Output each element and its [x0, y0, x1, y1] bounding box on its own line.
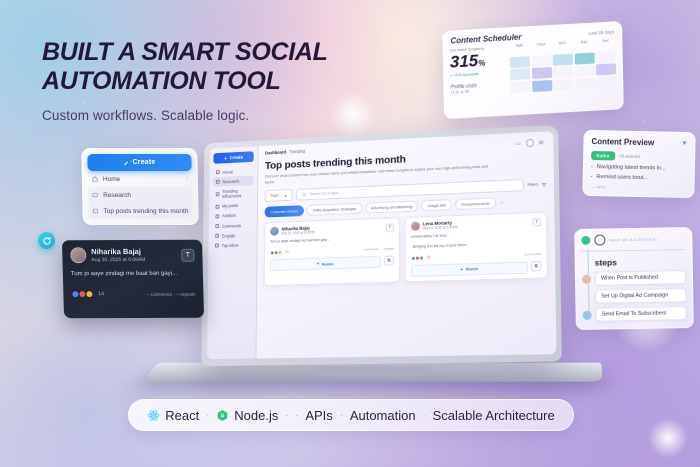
tech-item-automation[interactable]: Automation	[350, 408, 416, 423]
breadcrumb-current: Trending	[289, 149, 305, 155]
reaction-count: 14	[98, 291, 104, 297]
tech-item-react-label: React	[165, 408, 199, 423]
workflow-title: steps	[595, 256, 686, 268]
post-meta: -- comments · -- reposts	[146, 291, 195, 296]
scheduler-cell-1-1[interactable]	[531, 67, 551, 79]
status-dot-icon	[581, 236, 590, 245]
sidebar-item-research-label: Research	[103, 191, 131, 198]
filter-chip-4[interactable]: Entrepreneurship	[455, 198, 496, 211]
app-sidebar[interactable]: Create HomeResearchTrending influencersM…	[207, 146, 259, 359]
post-card-2-author-block: Lena Moriarty Sep 01, 2026 at 5:30PM	[423, 220, 458, 230]
post-card-1-meta: -- comments · -- reposts	[362, 247, 394, 252]
scheduler-cell-1-3[interactable]	[574, 65, 594, 77]
floating-post-card[interactable]: Niharika Bajaj Aug 30, 2025 at 6:06AM T …	[62, 240, 204, 318]
post-card-1-footer: 14 -- comments · -- reposts	[270, 246, 394, 255]
laptop-lid: Create HomeResearchTrending influencersM…	[201, 125, 562, 366]
scheduler-cell-0-2[interactable]	[553, 53, 573, 65]
topic-select[interactable]: Topic ▾	[265, 189, 293, 202]
mail-icon[interactable]: ✉	[539, 139, 544, 146]
text-format-button[interactable]: T	[181, 248, 194, 261]
workflow-header: Asset 360 8 4:30 003:01	[581, 233, 685, 252]
plus-icon	[224, 156, 228, 160]
workflow-step-1[interactable]: When Post is Published	[582, 270, 686, 286]
workflow-steps-card[interactable]: Asset 360 8 4:30 003:01 steps When Post …	[574, 227, 694, 330]
sidebar-item-home[interactable]: Home ›	[88, 171, 192, 187]
filter-chip-1[interactable]: Traffic Acquisition Strategies	[306, 203, 362, 216]
app-sidebar-item-trending-influencers[interactable]: Trending influencers	[213, 185, 254, 201]
scheduler-cell-0-1[interactable]	[531, 54, 551, 66]
sidebar-item-trending-label: Top posts trending this month	[103, 207, 188, 214]
refresh-icon	[41, 235, 51, 245]
sidebar-item-home-label: Home	[103, 176, 120, 183]
tech-separator-5: ·	[423, 410, 426, 420]
step-node-icon	[582, 274, 591, 283]
tech-item-apis[interactable]: APIs	[305, 408, 332, 423]
kpi-unit: %	[478, 59, 485, 68]
scheduler-heatmap-grid[interactable]: SMSTriviaSEORaySell	[509, 38, 616, 92]
avatar	[270, 227, 279, 236]
content-preview-item-1[interactable]: ▪ Navigating latest trends in...	[591, 164, 687, 172]
scheduler-cell-2-4[interactable]	[596, 76, 616, 88]
scheduler-col-3: Ray	[574, 40, 594, 52]
tech-separator-4: ·	[340, 410, 343, 420]
post-card-2-date: Sep 01, 2026 at 5:30PM	[423, 225, 458, 230]
pencil-icon	[123, 160, 129, 166]
scheduler-kpi-value: 315%	[450, 50, 506, 70]
post-card-1-remix-label: Remix	[322, 261, 334, 266]
nav-item-icon	[216, 192, 220, 196]
filter-chip-0[interactable]: Corporate memes	[264, 206, 303, 218]
profile-circle-icon[interactable]	[526, 139, 534, 147]
react-icon	[147, 409, 160, 422]
post-card-1-actions: Remix ⧉	[270, 255, 394, 271]
create-button-label: Create	[132, 159, 155, 166]
headline-block: BUILT A SMART SOCIAL AUTOMATION TOOL Cus…	[42, 38, 372, 123]
post-card-2[interactable]: Lena Moriarty Sep 01, 2026 at 5:30PM T U…	[405, 212, 548, 282]
scheduler-cell-1-4[interactable]	[596, 63, 616, 75]
scheduler-col-0: SMS	[509, 43, 529, 55]
filters-label: Filters	[527, 183, 538, 188]
reaction-celebrate-icon	[85, 290, 93, 298]
post-card-2-text: Unfortunately I do love...	[411, 231, 541, 241]
avatar	[411, 222, 420, 231]
app-sidebar-item-label: Analyze	[222, 213, 236, 218]
trending-icon	[92, 208, 98, 214]
app-sidebar-item-label: Trending influencers	[222, 188, 250, 199]
content-preview-header: Content Preview ▼	[591, 137, 687, 148]
post-card-2-text-2: - Bringing it to the top of your inbox..…	[411, 240, 541, 250]
trackpad	[310, 367, 432, 377]
sparkle-icon	[316, 262, 320, 266]
post-author-block: Niharika Bajaj Aug 30, 2025 at 6:06AM	[91, 247, 145, 263]
content-preview-footer: ---- Up to.	[590, 185, 686, 191]
content-preview-item-1-label: Navigating latest trends in...	[597, 164, 666, 171]
breadcrumb-sep: ·	[287, 150, 288, 155]
bullet-icon: ▪	[591, 174, 593, 180]
post-header: Niharika Bajaj Aug 30, 2025 at 6:06AM T	[70, 247, 194, 263]
app-create-button[interactable]: Create	[213, 151, 253, 164]
nav-item-icon	[215, 224, 219, 228]
post-card-2-remix-button[interactable]: Remix	[411, 261, 528, 277]
assigned-label: All assned	[619, 154, 640, 159]
nav-item-icon	[216, 170, 220, 174]
content-preview-item-2[interactable]: ▪ Remind users bout...	[591, 174, 687, 182]
workflow-step-3-label: Send Email To Subscribers	[596, 306, 687, 322]
tech-item-scalable[interactable]: Scalable Architecture	[433, 408, 555, 423]
headline-line-1: BUILT A SMART SOCIAL	[42, 38, 328, 66]
nav-item-icon	[216, 204, 220, 208]
tech-item-react[interactable]: React	[147, 408, 199, 423]
post-card-1-reaction-count: 14	[285, 250, 288, 254]
app-main: Dashboard · Trending Top posts trending …	[256, 131, 556, 358]
content-scheduler-card[interactable]: Content Scheduler Last 28 days Get reach…	[442, 21, 624, 119]
scheduler-cell-1-0[interactable]	[510, 68, 530, 80]
filters-button[interactable]: Filters	[527, 182, 546, 188]
content-preview-title: Content Preview	[591, 137, 654, 147]
page-title: BUILT A SMART SOCIAL AUTOMATION TOOL	[42, 38, 372, 97]
research-icon	[92, 192, 98, 198]
post-card-1[interactable]: Niharika Bajaj Sep 10, 2025 at 6:06PM T …	[264, 218, 400, 286]
post-card-1-text-button[interactable]: T	[386, 223, 394, 231]
post-footer: 14 -- comments · -- reposts	[71, 290, 195, 298]
post-card-1-author-block: Niharika Bajaj Sep 10, 2025 at 6:06PM	[282, 226, 315, 236]
tech-item-automation-label: Automation	[350, 408, 416, 423]
scheduler-cell-2-2[interactable]	[553, 78, 573, 90]
post-card-2-meta: 5 comments	[524, 252, 541, 257]
sidebar-item-research[interactable]: Research	[88, 187, 192, 203]
post-card-2-footer: 32 5 comments	[411, 251, 541, 260]
app-sidebar-item-label: Comments	[222, 223, 241, 229]
scheduler-cell-1-2[interactable]	[553, 66, 573, 78]
tech-item-nodejs[interactable]: Node.js	[216, 408, 278, 423]
laptop-screen: Create HomeResearchTrending influencersM…	[207, 131, 557, 359]
sidebar-item-trending[interactable]: Top posts trending this month	[88, 203, 192, 219]
chevron-down-icon[interactable]: ▼	[681, 140, 687, 146]
post-card-1-reactions[interactable]: 14	[270, 250, 289, 256]
workflow-step-1-label: When Post is Published	[595, 270, 686, 286]
bullet-icon: ▪	[591, 164, 593, 170]
scheduler-cell-2-3[interactable]	[575, 77, 595, 89]
nav-item-icon	[216, 180, 220, 184]
chevron-right-icon: ›	[186, 176, 188, 182]
filter-chip-3[interactable]: Google Ads	[421, 200, 452, 212]
post-text: Tum jo aaye zindagi me baat ban gayi...	[71, 270, 195, 279]
tech-separator-2: ·	[285, 410, 288, 420]
search-placeholder: Search for a topic...	[309, 191, 341, 196]
post-card-2-share-button[interactable]: ⧉	[531, 261, 542, 272]
nav-item-icon	[215, 214, 219, 218]
post-card-2-text-button[interactable]: T	[532, 218, 540, 226]
scheduler-cell-0-4[interactable]	[596, 51, 616, 63]
post-card-1-header: Niharika Bajaj Sep 10, 2025 at 6:06PM T	[270, 223, 394, 236]
post-card-1-date: Sep 10, 2025 at 6:06PM	[282, 231, 315, 236]
content-preview-tags: Sales All assned	[591, 151, 687, 162]
workflow-step-2[interactable]: Set Up Digital Ad Campaign	[582, 288, 686, 304]
window-controls[interactable]: ▭ ✉	[515, 139, 543, 148]
app-logo-badge	[38, 232, 56, 250]
tech-item-scalable-label: Scalable Architecture	[433, 408, 555, 423]
step-node-icon	[583, 310, 592, 319]
breadcrumb-root[interactable]: Dashboard	[265, 150, 286, 156]
post-card-2-header: Lena Moriarty Sep 01, 2026 at 5:30PM T	[411, 217, 541, 231]
filter-chip-2[interactable]: Advertising and Marketing	[365, 201, 418, 214]
post-date: Aug 30, 2025 at 6:06AM	[91, 257, 145, 263]
post-card-grid: Niharika Bajaj Sep 10, 2025 at 6:06PM T …	[264, 212, 548, 286]
app-nav-list[interactable]: HomeResearchTrending influencersMy posts…	[212, 166, 253, 251]
home-icon	[92, 176, 98, 182]
tech-item-apis-label: APIs	[305, 408, 332, 423]
tech-separator-1: ·	[206, 410, 209, 420]
record-ring-icon	[594, 234, 605, 245]
scheduler-kpi-panel: Get reach targeting 315% + +2.8 accounts…	[450, 44, 507, 96]
kpi-number: 315	[450, 51, 479, 72]
sparkle-3	[648, 418, 688, 458]
workflow-step-3[interactable]: Send Email To Subscribers	[583, 306, 687, 322]
app-sidebar-item-label: Research	[222, 179, 239, 185]
post-card-1-text: Tum jo aaye zindagi me baat ban gayi...	[270, 236, 394, 246]
post-card-1-remix-button[interactable]: Remix	[270, 256, 381, 271]
reaction-celebrate-icon	[419, 255, 424, 260]
app-sidebar-item-label: Top inbox	[222, 243, 239, 248]
app-sidebar-item-label: My posts	[222, 203, 238, 208]
nav-item-icon	[215, 244, 219, 248]
post-card-2-reaction-count: 32	[427, 255, 431, 259]
tech-item-nodejs-label: Node.js	[234, 408, 278, 423]
search-icon	[302, 192, 307, 197]
tech-separator-3: ·	[295, 410, 298, 420]
post-card-2-remix-label: Remix	[466, 266, 478, 271]
scheduler-body: Get reach targeting 315% + +2.8 accounts…	[443, 38, 624, 103]
reaction-group[interactable]: 14	[71, 290, 104, 298]
avatar	[70, 247, 86, 263]
topic-select-value: Topic	[270, 194, 278, 198]
scheduler-col-4: Sell	[595, 38, 615, 50]
workflow-step-2-label: Set Up Digital Ad Campaign	[595, 288, 686, 304]
nodejs-icon	[216, 409, 229, 422]
app-sidebar-item-label: Engage	[222, 233, 236, 238]
status-badge: Sales	[591, 151, 615, 160]
laptop-mockup: Create HomeResearchTrending influencersM…	[196, 133, 556, 363]
post-card-1-share-button[interactable]: ⧉	[384, 255, 394, 265]
tech-stack-bar: React · Node.js · · APIs · Automation · …	[128, 399, 574, 431]
content-preview-card[interactable]: Content Preview ▼ Sales All assned ▪ Nav…	[582, 130, 695, 198]
nav-item-icon	[215, 234, 219, 238]
scheduler-col-1: Trivia	[531, 42, 551, 54]
scheduler-cell-0-3[interactable]	[574, 52, 594, 64]
chevron-down-icon: ▾	[285, 193, 287, 198]
app-create-label: Create	[230, 155, 243, 160]
sparkle-icon	[460, 267, 464, 271]
content-preview-item-2-label: Remind users bout...	[596, 174, 648, 181]
headline-subtitle: Custom workflows. Scalable logic.	[42, 108, 372, 123]
scheduler-range-selector[interactable]: Last 28 days	[589, 29, 615, 35]
scheduler-col-2: SEO	[552, 41, 572, 53]
quick-nav-card[interactable]: Create Home › Research Top posts trendin…	[81, 148, 199, 225]
scheduler-cell-2-1[interactable]	[532, 79, 552, 91]
app-sidebar-item-label: Home	[223, 169, 234, 174]
headline-line-2: AUTOMATION TOOL	[42, 67, 281, 95]
menu-icon[interactable]: ▭	[515, 140, 521, 147]
app-sidebar-item-top-inbox[interactable]: Top inbox	[212, 240, 253, 251]
post-card-2-actions: Remix ⧉	[411, 261, 542, 277]
post-author: Niharika Bajaj	[91, 247, 145, 256]
scheduler-cell-0-0[interactable]	[510, 56, 530, 68]
filter-icon	[541, 182, 546, 187]
chip-scroll-next-icon[interactable]: ›	[501, 200, 503, 206]
post-card-2-reactions[interactable]: 32	[411, 255, 431, 261]
workflow-header-meta: Asset 360 8 4:30 003:01	[609, 237, 657, 242]
create-button[interactable]: Create	[87, 154, 191, 171]
scheduler-cell-2-0[interactable]	[510, 81, 530, 93]
reaction-celebrate-icon	[278, 250, 283, 255]
